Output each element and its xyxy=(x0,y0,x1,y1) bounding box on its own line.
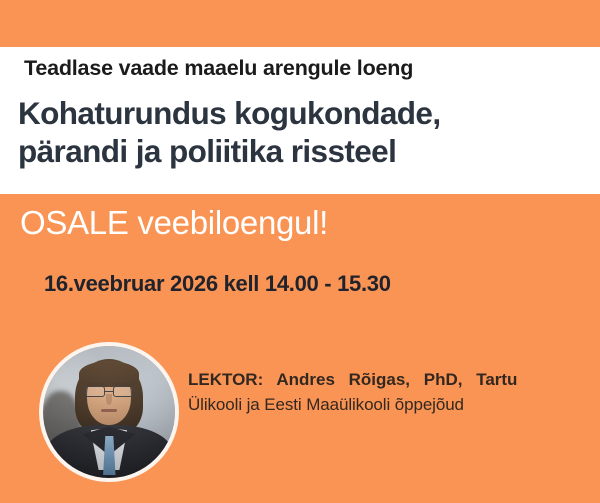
lecturer-name-line: LEKTOR: Andres Rõigas, PhD, Tartu xyxy=(188,368,580,393)
page-title-line-1: Kohaturundus kogukondade, xyxy=(18,95,441,131)
call-to-action-text: OSALE veebiloengul! xyxy=(20,203,328,243)
lecture-announcement-poster: Teadlase vaade maaelu arengule loeng Koh… xyxy=(0,0,600,503)
poster-subtitle: Teadlase vaade maaelu arengule loeng xyxy=(24,56,413,82)
photo-vignette xyxy=(43,346,175,478)
portrait-photo-andres-roigas xyxy=(43,346,175,478)
page-title-line-2: pärandi ja poliitika rissteel xyxy=(18,132,441,170)
page-title: Kohaturundus kogukondade, pärandi ja pol… xyxy=(18,94,441,171)
event-datetime: 16.veebruar 2026 kell 14.00 - 15.30 xyxy=(44,271,391,297)
lecturer-info: LEKTOR: Andres Rõigas, PhD, Tartu Ülikoo… xyxy=(188,368,580,417)
lecturer-affiliation-line: Ülikooli ja Eesti Maaülikooli õppejõud xyxy=(188,393,580,418)
avatar xyxy=(39,342,179,482)
